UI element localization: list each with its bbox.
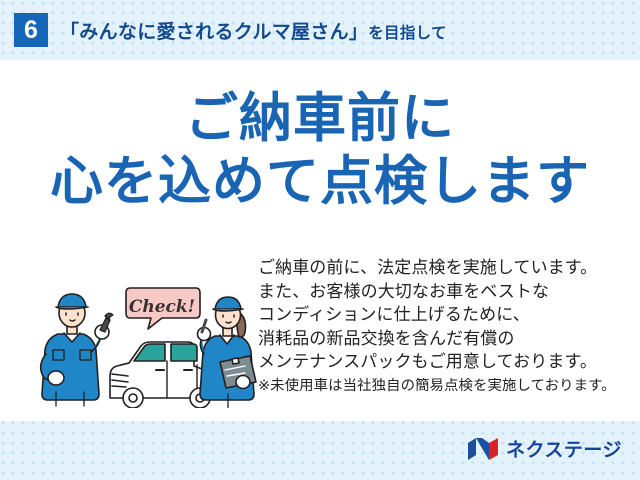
body-copy: ご納車の前に、法定点検を実施しています。 また、お客様の大切なお車をベストな コ… [258,256,630,397]
header-title-main: 「みんなに愛されるクルマ屋さん」 [60,22,368,43]
mechanics-illustration: Check! [34,270,260,408]
content-panel: ご納車前に 心を込めて点検します ご納車の前に、法定点検を実施しています。 また… [0,60,640,421]
female-mechanic-figure [198,297,257,408]
check-bubble-text: Check! [129,297,195,317]
wrench-icon [100,313,113,332]
headline: ご納車前に 心を込めて点検します [0,88,640,213]
advertisement-banner: 6 「みんなに愛されるクルマ屋さん」を目指して ご納車前に 心を込めて点検します… [0,0,640,480]
body-line-4: 消耗品の新品交換を含んだ有償の [258,329,515,348]
header-band: 6 「みんなに愛されるクルマ屋さん」を目指して [0,0,640,60]
nextage-n-mark-icon [467,437,499,461]
male-mechanic-figure [41,294,113,406]
section-number-badge: 6 [14,13,48,47]
brand-logo: ネクステージ [467,435,622,462]
header-title: 「みんなに愛されるクルマ屋さん」を目指して [60,17,447,44]
headline-line-2: 心を込めて点検します [0,151,640,214]
header-title-sub: を目指して [368,25,447,42]
brand-name: ネクステージ [506,435,622,462]
body-line-1: ご納車の前に、法定点検を実施しています。 [258,258,597,277]
headline-line-1: ご納車前に [0,88,640,151]
kei-van-illustration [110,342,210,408]
body-line-3: コンディションに仕上げるために、 [258,305,530,324]
body-line-5: メンテナンスパックもご用意しております。 [258,352,597,371]
body-line-2: また、お客様の大切なお車をベストな [258,282,549,301]
body-note: ※未使用車は当社独自の簡易点検を実施しております。 [258,375,630,397]
footer-band: ネクステージ [0,421,640,480]
